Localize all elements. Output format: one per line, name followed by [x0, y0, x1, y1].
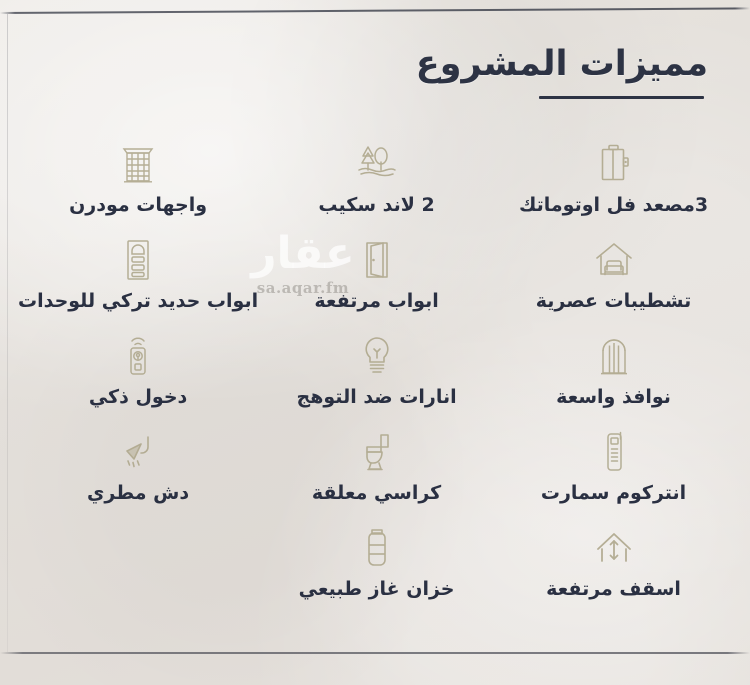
- project-features-poster: مميزات المشروع عقار sa.aqar.fm 3مصعد فل …: [0, 0, 750, 685]
- feature-label: 3مصعد فل اوتوماتك: [519, 194, 708, 217]
- open-door-icon: [361, 236, 393, 284]
- feature-label: انتركوم سمارت: [541, 482, 686, 505]
- feature-item: انتركوم سمارت: [495, 428, 732, 524]
- rain-shower-head-icon: [120, 428, 156, 476]
- feature-item: واجهات مودرن: [18, 140, 258, 236]
- feature-label: ابواب حديد تركي للوحدات: [18, 290, 258, 313]
- page-title: مميزات المشروع: [416, 44, 708, 84]
- feature-label: واجهات مودرن: [69, 194, 207, 217]
- title-block: مميزات المشروع: [416, 44, 708, 99]
- feature-item: اسقف مرتفعة: [495, 524, 732, 620]
- elevator-icon: [597, 140, 631, 188]
- feature-item: ابواب مرتفعة: [258, 236, 495, 332]
- feature-item: 2 لاند سكيب: [258, 140, 495, 236]
- feature-item: نوافذ واسعة: [495, 332, 732, 428]
- feature-item: دخول ذكي: [18, 332, 258, 428]
- feature-label: انارات ضد التوهج: [297, 386, 457, 409]
- feature-label: تشطيبات عصرية: [536, 290, 692, 313]
- toilet-icon: [359, 428, 395, 476]
- feature-item: انارات ضد التوهج: [258, 332, 495, 428]
- house-sofa-icon: [593, 236, 635, 284]
- poster-frame-left-line: [7, 14, 8, 652]
- feature-item: خزان غاز طبيعي: [258, 524, 495, 620]
- features-grid: 3مصعد فل اوتوماتك 2 لاند سكيب واجهات مود…: [18, 140, 732, 620]
- arched-window-icon: [597, 332, 631, 380]
- iron-door-icon: [122, 236, 154, 284]
- feature-item: 3مصعد فل اوتوماتك: [495, 140, 732, 236]
- poster-frame-top-line: [0, 7, 750, 14]
- feature-label: 2 لاند سكيب: [318, 194, 434, 217]
- feature-label: خزان غاز طبيعي: [299, 578, 455, 601]
- building-facade-icon: [120, 140, 156, 188]
- feature-label: دش مطري: [87, 482, 189, 505]
- feature-item: تشطيبات عصرية: [495, 236, 732, 332]
- title-underline-rule: [539, 96, 704, 99]
- feature-label: ابواب مرتفعة: [314, 290, 438, 313]
- lightbulb-icon: [360, 332, 394, 380]
- intercom-handset-icon: [600, 428, 628, 476]
- high-ceiling-arrow-icon: [592, 524, 636, 572]
- feature-item: دش مطري: [18, 428, 258, 524]
- landscape-trees-icon: [355, 140, 399, 188]
- feature-label: دخول ذكي: [89, 386, 187, 409]
- smart-lock-remote-icon: [122, 332, 154, 380]
- feature-item: ابواب حديد تركي للوحدات: [18, 236, 258, 332]
- feature-label: اسقف مرتفعة: [546, 578, 681, 601]
- feature-label: نوافذ واسعة: [556, 386, 671, 409]
- gas-tank-icon: [361, 524, 393, 572]
- feature-label: كراسي معلقة: [312, 482, 441, 505]
- poster-frame-bottom-line: [0, 652, 750, 654]
- feature-item: كراسي معلقة: [258, 428, 495, 524]
